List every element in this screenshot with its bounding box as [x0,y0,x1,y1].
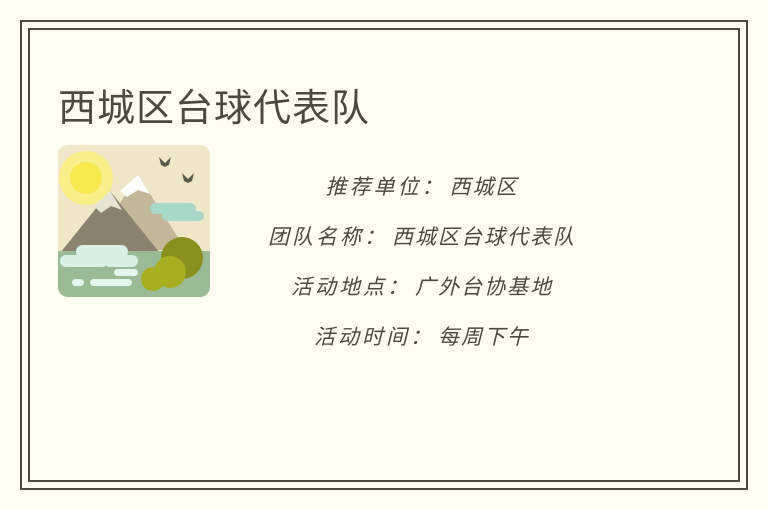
info-line-activity-time: 活动时间：每周下午 [230,312,614,362]
info-line-recommending-unit: 推荐单位：西城区 [230,162,614,212]
info-line-activity-location: 活动地点：广外台协基地 [230,262,614,312]
landscape-illustration [58,145,210,297]
info-value: 西城区 [450,175,519,199]
info-value: 西城区台球代表队 [392,225,576,249]
page-root: 西城区台球代表队 [0,0,768,510]
info-label: 团队名称： [268,225,388,249]
page-title: 西城区台球代表队 [58,85,370,133]
info-line-team-name: 团队名称：西城区台球代表队 [230,212,614,262]
info-label: 活动时间： [314,325,434,349]
info-label: 活动地点： [291,275,411,299]
team-info-block: 推荐单位：西城区 团队名称：西城区台球代表队 活动地点：广外台协基地 活动时间：… [230,162,614,362]
info-label: 推荐单位： [326,175,446,199]
info-value: 每周下午 [438,325,530,349]
info-value: 广外台协基地 [415,275,553,299]
